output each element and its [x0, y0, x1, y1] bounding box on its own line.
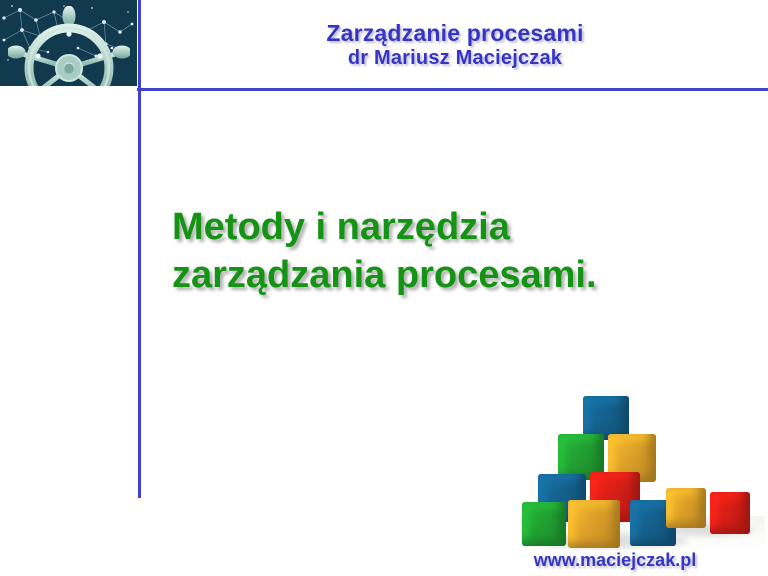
building-blocks-illustration — [520, 384, 765, 550]
ships-wheel-icon — [8, 6, 130, 86]
cube-bottom-yellow — [568, 500, 620, 548]
slide-header: Zarządzanie procesami dr Mariusz Maciejc… — [150, 20, 760, 71]
cube-bottom-green — [522, 502, 566, 546]
cube-right-yellow — [666, 488, 706, 528]
course-title: Zarządzanie procesami — [150, 20, 760, 47]
lecturer-name: dr Mariusz Maciejczak — [150, 47, 760, 71]
page-title: Metody i narzędzia zarządzania procesami… — [172, 203, 712, 300]
website-footer: www.maciejczak.pl — [470, 550, 760, 571]
slide-canvas: Zarządzanie procesami dr Mariusz Maciejc… — [0, 0, 768, 576]
page-title-line-2: zarządzania procesami. — [172, 251, 712, 299]
header-horizontal-rule — [137, 88, 768, 91]
cube-right-red — [710, 492, 750, 534]
left-vertical-rule — [138, 0, 141, 498]
ships-wheel-logo — [0, 0, 137, 86]
page-title-line-1: Metody i narzędzia — [172, 203, 712, 251]
